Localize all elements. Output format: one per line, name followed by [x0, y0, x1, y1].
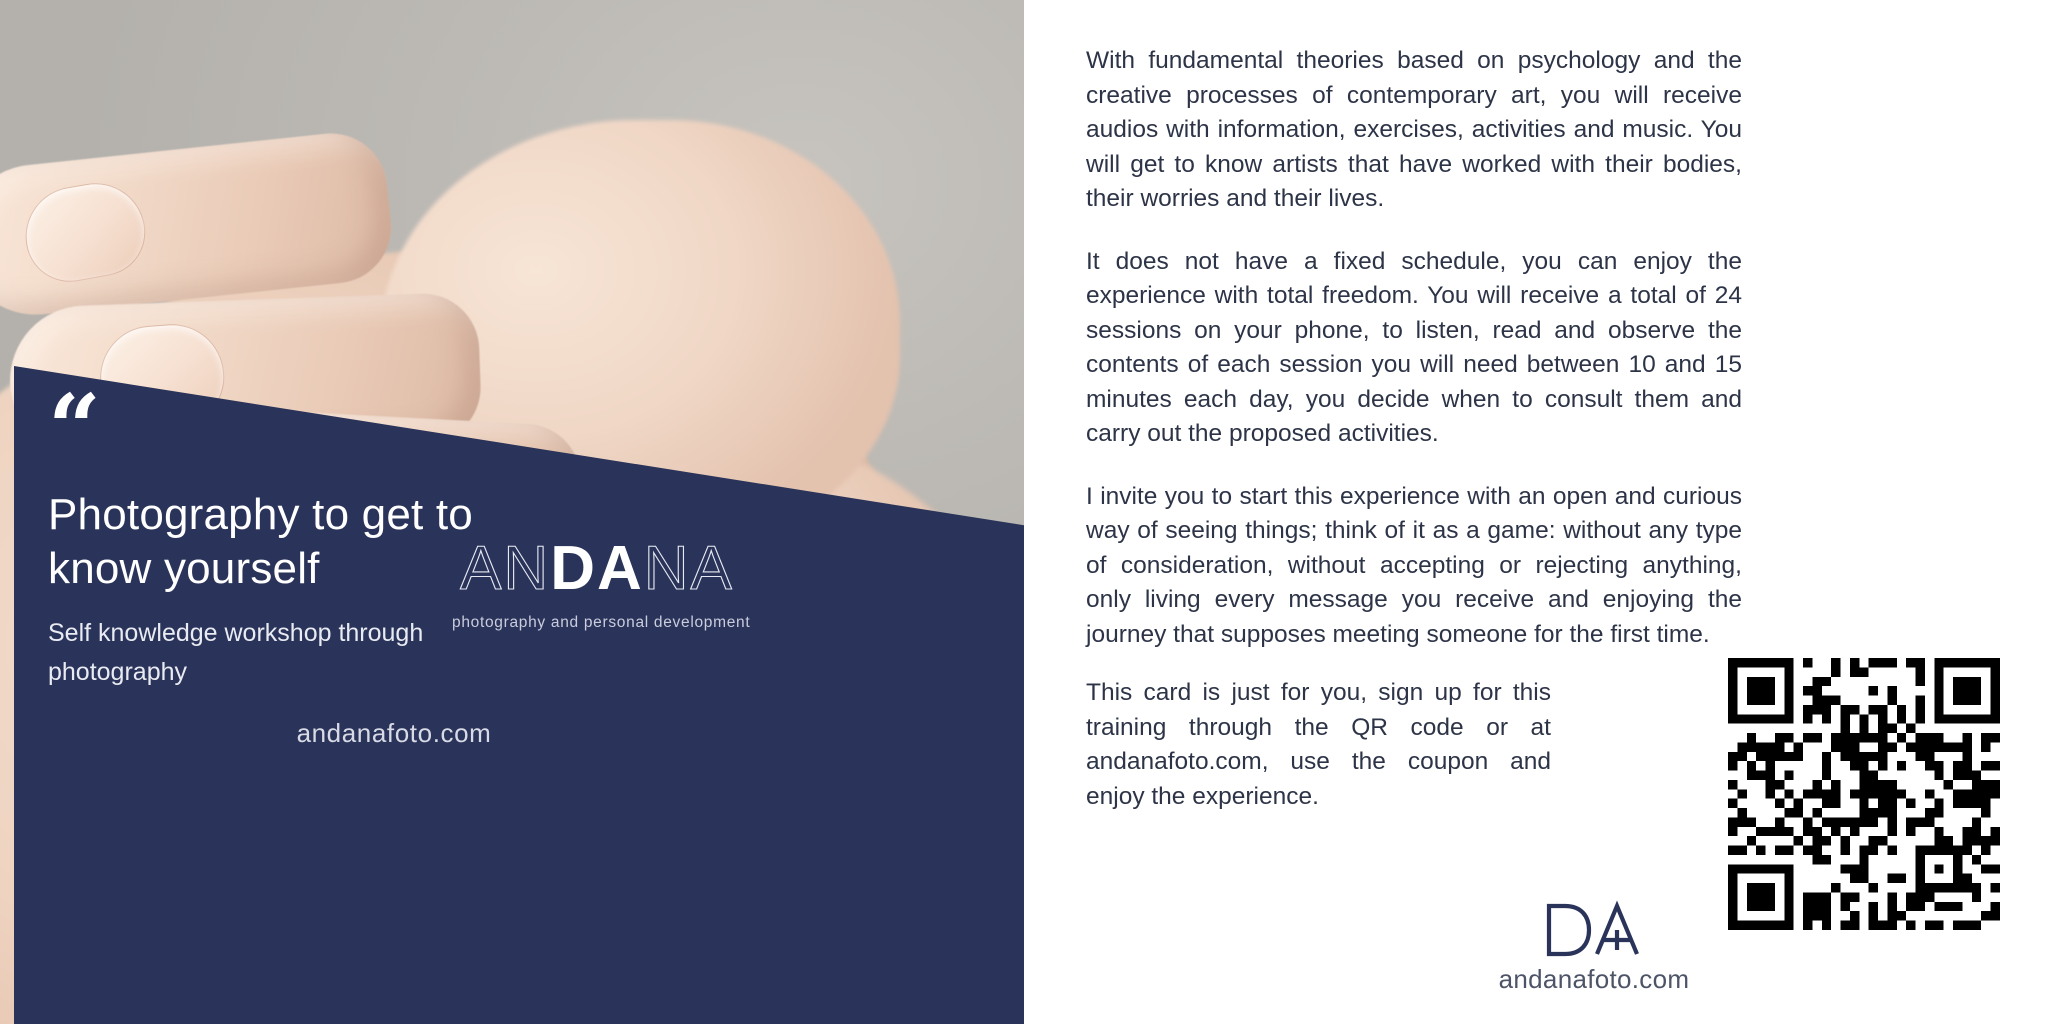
andana-wordmark: ANDANA — [452, 538, 742, 604]
footer-website-url[interactable]: andanafoto.com — [1384, 964, 1804, 995]
left-photo-panel: “ Photography to get to know yourself Se… — [0, 0, 1024, 1024]
andana-tagline: photography and personal development — [452, 614, 742, 632]
andana-wordmark-part3: NA — [644, 534, 734, 603]
paragraph-2: It does not have a fixed schedule, you c… — [1086, 245, 1742, 452]
paragraph-3: I invite you to start this experience wi… — [1086, 480, 1742, 653]
page-subtitle: Self knowledge workshop through photogra… — [48, 614, 468, 692]
andana-wordmark-part1: AN — [460, 534, 550, 603]
paragraph-1: With fundamental theories based on psych… — [1086, 44, 1742, 217]
qr-code-image — [1728, 658, 2000, 930]
body-copy: With fundamental theories based on psych… — [1086, 44, 1742, 653]
signup-paragraph: This card is just for you, sign up for t… — [1086, 676, 1551, 814]
right-content-panel: With fundamental theories based on psych… — [1024, 0, 2048, 1024]
page-title: Photography to get to know yourself — [48, 488, 488, 595]
andana-logo: ANDANA photography and personal developm… — [452, 538, 742, 632]
da-monogram-icon — [1384, 900, 1804, 960]
quote-icon: “ — [48, 400, 99, 457]
footer-brand: andanafoto.com — [1384, 900, 1804, 995]
panel-website-url[interactable]: andanafoto.com — [14, 718, 774, 749]
qr-code[interactable] — [1722, 652, 2006, 936]
business-card: “ Photography to get to know yourself Se… — [0, 0, 2048, 1024]
andana-wordmark-part2: DA — [550, 534, 644, 603]
